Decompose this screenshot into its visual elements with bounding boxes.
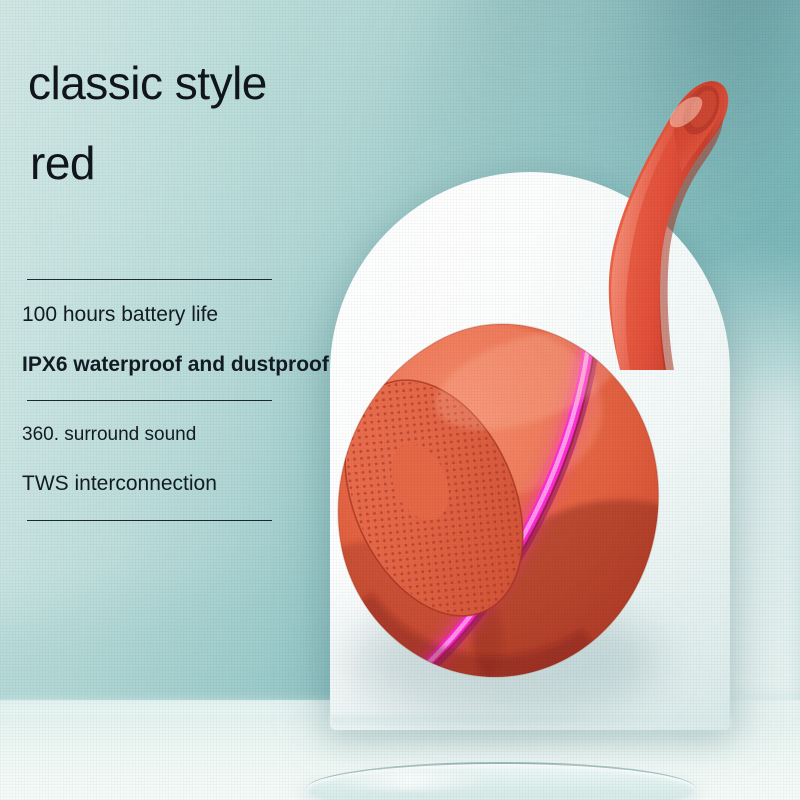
product-poster: classic style red 100 hours battery life…	[0, 0, 800, 800]
divider-line-3	[27, 520, 272, 521]
bluetooth-speaker-product	[322, 300, 682, 700]
feature-waterproof: IPX6 waterproof and dustproof	[22, 353, 329, 377]
headline-line-1: classic style	[28, 56, 267, 110]
feature-battery-life: 100 hours battery life	[22, 303, 218, 327]
divider-line-1	[27, 279, 272, 280]
glass-disc-highlight	[330, 772, 490, 790]
divider-line-2	[27, 400, 272, 401]
feature-tws-interconnection: TWS interconnection	[22, 472, 217, 496]
feature-surround-sound: 360. surround sound	[22, 424, 196, 446]
headline-line-2: red	[30, 136, 95, 190]
